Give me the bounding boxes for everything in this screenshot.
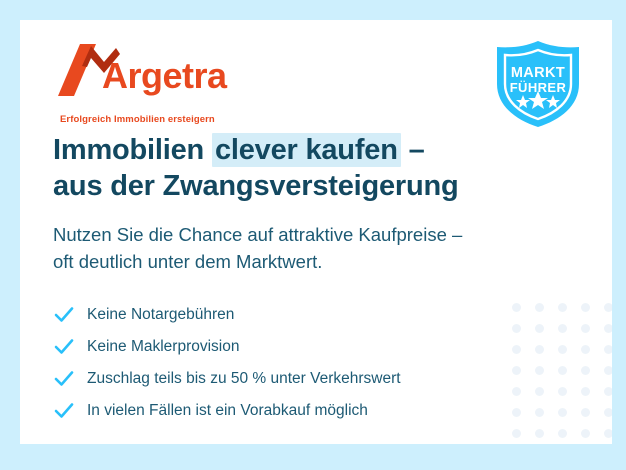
- decorative-dot: [512, 408, 521, 417]
- decorative-dot: [604, 429, 612, 438]
- decorative-dot: [581, 324, 590, 333]
- check-icon: [53, 368, 75, 390]
- decorative-dot: [535, 408, 544, 417]
- check-icon: [53, 400, 75, 422]
- list-item-label: Keine Notargebühren: [87, 307, 234, 323]
- headline-line-2: aus der Zwangsversteigerung: [53, 170, 459, 202]
- decorative-dot: [604, 303, 612, 312]
- decorative-dot: [512, 345, 521, 354]
- page-subtitle: Nutzen Sie die Chance auf attraktive Kau…: [53, 221, 553, 275]
- decorative-dot: [512, 429, 521, 438]
- decorative-dot: [512, 366, 521, 375]
- decorative-dot: [535, 303, 544, 312]
- decorative-dot: [558, 303, 567, 312]
- decorative-dot: [558, 324, 567, 333]
- decorative-dot: [604, 345, 612, 354]
- headline-text-before: Immobilien: [53, 134, 212, 166]
- badge-line-1: MARKT: [490, 65, 586, 81]
- list-item: Keine Notargebühren: [53, 299, 523, 331]
- check-icon: [53, 336, 75, 358]
- decorative-dot: [535, 366, 544, 375]
- decorative-dot: [604, 366, 612, 375]
- decorative-dot: [512, 324, 521, 333]
- list-item: Keine Maklerprovision: [53, 331, 523, 363]
- marktfuehrer-badge: MARKT FÜHRER: [490, 38, 586, 130]
- decorative-dot: [558, 429, 567, 438]
- decorative-dot: [535, 387, 544, 396]
- list-item: In vielen Fällen ist ein Vorabkauf mögli…: [53, 395, 523, 427]
- decorative-dot: [581, 366, 590, 375]
- subtitle-line-1: Nutzen Sie die Chance auf attraktive Kau…: [53, 224, 462, 245]
- frame-border-top: [0, 0, 626, 20]
- decorative-dot: [604, 408, 612, 417]
- promo-banner: Argetra Erfolgreich Immobilien ersteiger…: [0, 0, 626, 470]
- argetra-wordmark: Argetra: [102, 58, 227, 94]
- list-item: Zuschlag teils bis zu 50 % unter Verkehr…: [53, 363, 523, 395]
- check-icon: [53, 304, 75, 326]
- headline-text-after: –: [401, 134, 425, 166]
- decorative-dot: [535, 345, 544, 354]
- decorative-dot: [535, 429, 544, 438]
- subtitle-line-2: oft deutlich unter dem Marktwert.: [53, 251, 322, 272]
- dot-pattern-decoration: [512, 303, 612, 444]
- headline-highlight: clever kaufen: [212, 133, 401, 167]
- decorative-dot: [604, 324, 612, 333]
- argetra-logo[interactable]: Argetra Erfolgreich Immobilien ersteiger…: [58, 44, 238, 122]
- decorative-dot: [558, 387, 567, 396]
- decorative-dot: [558, 408, 567, 417]
- badge-line-2: FÜHRER: [490, 80, 586, 95]
- frame-border-right: [612, 0, 626, 470]
- list-item-label: Zuschlag teils bis zu 50 % unter Verkehr…: [87, 371, 401, 387]
- decorative-dot: [581, 387, 590, 396]
- decorative-dot: [604, 387, 612, 396]
- benefits-checklist: Keine Notargebühren Keine Maklerprovisio…: [53, 299, 523, 427]
- decorative-dot: [512, 387, 521, 396]
- decorative-dot: [581, 408, 590, 417]
- decorative-dot: [581, 429, 590, 438]
- list-item-label: Keine Maklerprovision: [87, 339, 240, 355]
- decorative-dot: [512, 303, 521, 312]
- decorative-dot: [581, 303, 590, 312]
- frame-border-bottom: [0, 444, 626, 470]
- decorative-dot: [558, 345, 567, 354]
- decorative-dot: [558, 366, 567, 375]
- frame-border-left: [0, 0, 20, 470]
- decorative-dot: [581, 345, 590, 354]
- headline-line-1: Immobilien clever kaufen –: [53, 133, 425, 167]
- page-title: Immobilien clever kaufen – aus der Zwang…: [53, 133, 573, 205]
- decorative-dot: [535, 324, 544, 333]
- list-item-label: In vielen Fällen ist ein Vorabkauf mögli…: [87, 403, 368, 419]
- banner-content: Argetra Erfolgreich Immobilien ersteiger…: [20, 20, 612, 444]
- argetra-tagline: Erfolgreich Immobilien ersteigern: [60, 114, 215, 125]
